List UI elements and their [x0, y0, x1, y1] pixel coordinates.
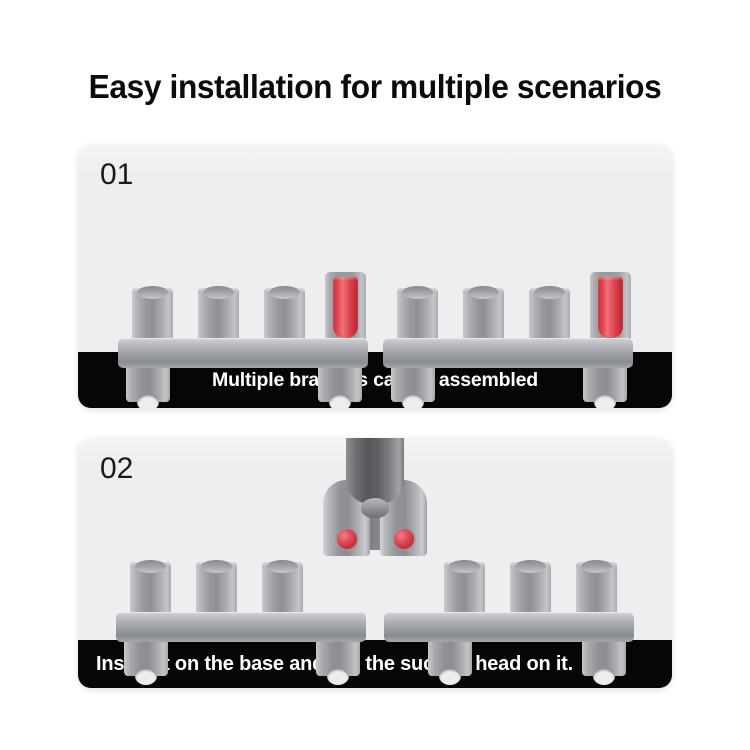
- socket-gray: [196, 562, 237, 618]
- caption-text-01: Multiple brackets can be assembled: [212, 369, 538, 392]
- socket-gray: [397, 288, 438, 344]
- step-badge-01: 01: [100, 158, 133, 192]
- wand-tip: [361, 498, 389, 518]
- page-title: Easy installation for multiple scenarios: [15, 68, 735, 106]
- socket-red-insert: [598, 277, 623, 338]
- socket-gray: [262, 562, 303, 618]
- socket-red: [590, 272, 631, 344]
- socket-gray: [529, 288, 570, 344]
- socket-gray: [444, 562, 485, 618]
- bracket-rail: [384, 612, 634, 642]
- socket-gray: [576, 562, 617, 618]
- release-button-red: [337, 529, 357, 549]
- release-button-red: [394, 529, 414, 549]
- bracket-rail: [383, 338, 633, 368]
- bracket-rail: [116, 612, 366, 642]
- socket-gray: [463, 288, 504, 344]
- bracket-rail: [118, 338, 368, 368]
- socket-red: [325, 272, 366, 344]
- vacuum-wand: [346, 438, 404, 504]
- socket-gray: [130, 562, 171, 618]
- socket-red-insert: [333, 277, 358, 338]
- socket-gray: [132, 288, 173, 344]
- step-badge-02: 02: [100, 452, 133, 486]
- socket-gray: [198, 288, 239, 344]
- socket-gray: [264, 288, 305, 344]
- socket-gray: [510, 562, 551, 618]
